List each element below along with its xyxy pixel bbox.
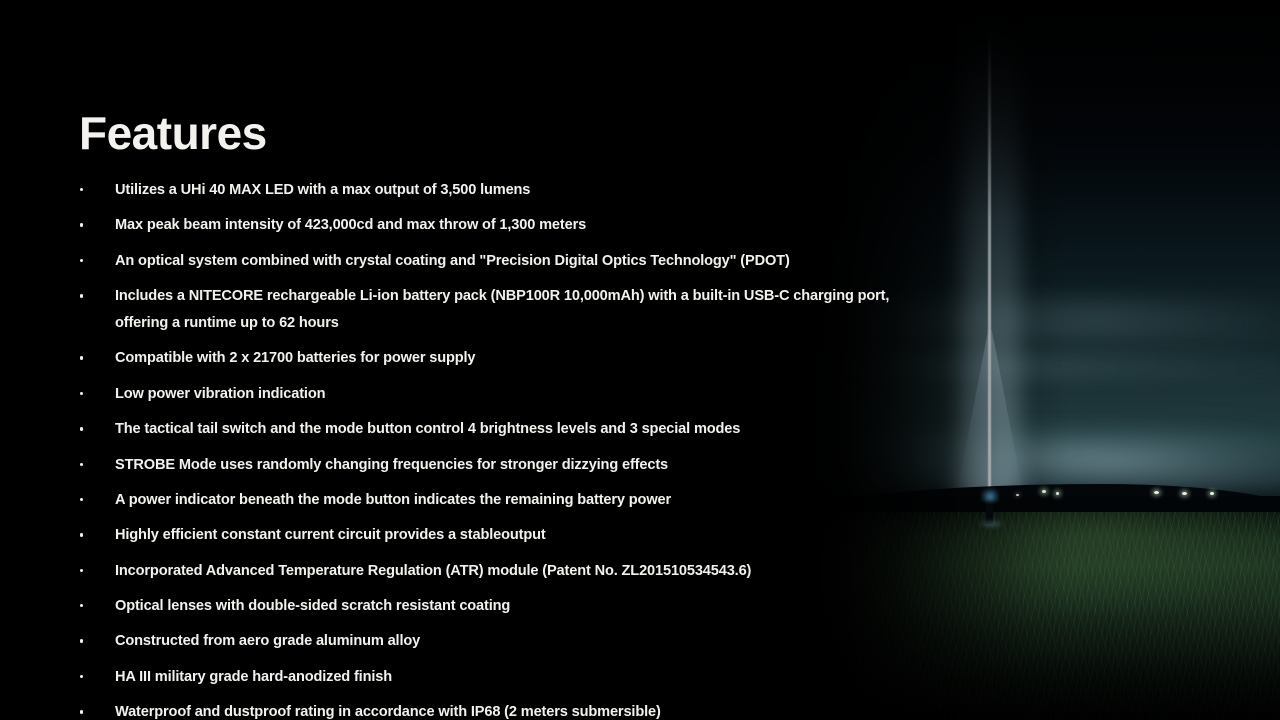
bullet-icon: [80, 188, 83, 191]
bullet-icon: [80, 356, 83, 359]
feature-item-label: HA III military grade hard-anodized fini…: [115, 669, 392, 685]
bullet-icon: [80, 392, 83, 395]
bullet-icon: [80, 223, 83, 226]
feature-item: Low power vibration indication: [79, 381, 999, 408]
horizon-light: [1182, 492, 1187, 495]
feature-item: An optical system combined with crystal …: [79, 248, 999, 275]
features-slide: Features Utilizes a UHi 40 MAX LED with …: [0, 0, 1280, 720]
bullet-icon: [80, 498, 83, 501]
bullet-icon: [80, 463, 83, 466]
feature-item-label: An optical system combined with crystal …: [115, 253, 790, 269]
feature-item-label: STROBE Mode uses randomly changing frequ…: [115, 457, 668, 473]
feature-item-label: The tactical tail switch and the mode bu…: [115, 421, 740, 437]
bullet-icon: [80, 427, 83, 430]
feature-item: Compatible with 2 x 21700 batteries for …: [79, 345, 999, 372]
bullet-icon: [80, 675, 83, 678]
feature-item-label: Waterproof and dustproof rating in accor…: [115, 704, 661, 720]
bullet-icon: [80, 294, 83, 297]
feature-item: Optical lenses with double-sided scratch…: [79, 593, 999, 620]
feature-item-label: Compatible with 2 x 21700 batteries for …: [115, 350, 475, 366]
feature-item-label: Constructed from aero grade aluminum all…: [115, 633, 420, 649]
feature-item: HA III military grade hard-anodized fini…: [79, 664, 999, 691]
bullet-icon: [80, 710, 83, 713]
slide-content: Features Utilizes a UHi 40 MAX LED with …: [0, 0, 1010, 720]
feature-item-label: Highly efficient constant current circui…: [115, 527, 546, 543]
feature-item: Includes a NITECORE rechargeable Li-ion …: [79, 283, 999, 337]
feature-item-label: Utilizes a UHi 40 MAX LED with a max out…: [115, 182, 530, 198]
bullet-icon: [80, 259, 83, 262]
feature-item: Constructed from aero grade aluminum all…: [79, 628, 999, 655]
feature-item: Highly efficient constant current circui…: [79, 522, 999, 549]
horizon-light: [1210, 492, 1214, 495]
horizon-light: [1154, 491, 1159, 494]
bullet-icon: [80, 569, 83, 572]
feature-item-label: Max peak beam intensity of 423,000cd and…: [115, 217, 586, 233]
bullet-icon: [80, 533, 83, 536]
feature-item-label: A power indicator beneath the mode butto…: [115, 492, 671, 508]
feature-item-label: Incorporated Advanced Temperature Regula…: [115, 563, 751, 579]
feature-item-label: Optical lenses with double-sided scratch…: [115, 598, 510, 614]
bullet-icon: [80, 639, 83, 642]
bullet-icon: [80, 604, 83, 607]
feature-item: The tactical tail switch and the mode bu…: [79, 416, 999, 443]
feature-item-label: Low power vibration indication: [115, 386, 325, 402]
feature-list: Utilizes a UHi 40 MAX LED with a max out…: [79, 177, 999, 720]
feature-item: Max peak beam intensity of 423,000cd and…: [79, 212, 999, 239]
feature-item: Incorporated Advanced Temperature Regula…: [79, 558, 999, 585]
feature-item: A power indicator beneath the mode butto…: [79, 487, 999, 514]
page-title: Features: [79, 110, 267, 156]
feature-item-label: Includes a NITECORE rechargeable Li-ion …: [115, 288, 889, 331]
feature-item: Waterproof and dustproof rating in accor…: [79, 699, 999, 720]
feature-item: STROBE Mode uses randomly changing frequ…: [79, 452, 999, 479]
feature-item: Utilizes a UHi 40 MAX LED with a max out…: [79, 177, 999, 204]
